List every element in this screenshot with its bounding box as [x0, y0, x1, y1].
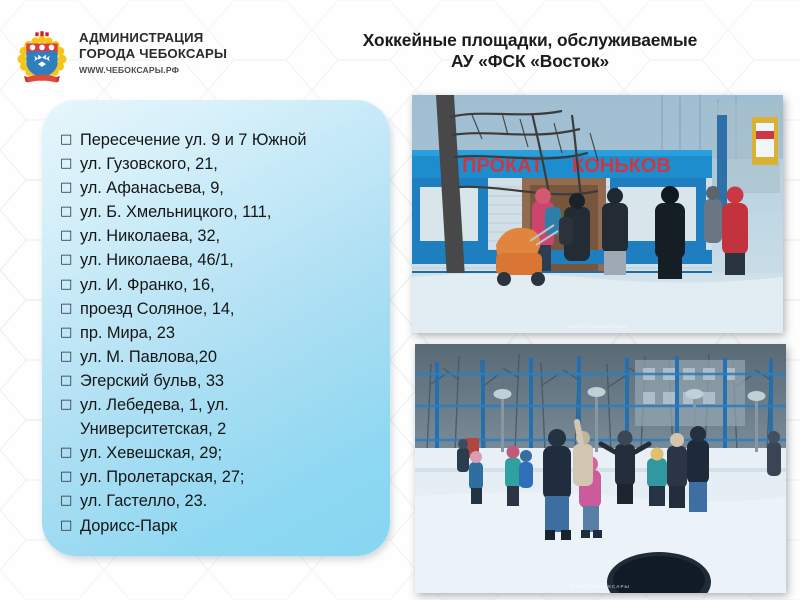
list-item: □проезд Соляное, 14, [60, 297, 380, 321]
list-item-label-continued: Университетская, 2 [80, 417, 380, 441]
list-item: □ул. И. Франко, 16, [60, 273, 380, 297]
list-item: □ул. М. Павлова,20 [60, 345, 380, 369]
list-item-label: Эгерский бульв, 33 [80, 369, 380, 393]
bullet-square-icon: □ [60, 128, 80, 152]
bullet-square-icon: □ [60, 369, 80, 393]
list-item-label: ул. Афанасьева, 9, [80, 176, 380, 200]
logo-line-website: WWW.ЧЕБОКСАРЫ.РФ [79, 63, 227, 77]
slide-canvas: АДМИНИСТРАЦИЯ ГОРОДА ЧЕБОКСАРЫ WWW.ЧЕБОК… [0, 0, 800, 600]
bullet-square-icon: □ [60, 345, 80, 369]
list-item-label: ул. Пролетарская, 27; [80, 465, 380, 489]
list-item: □ул. Лебедева, 1, ул.Университетская, 2 [60, 393, 380, 441]
bullet-square-icon: □ [60, 200, 80, 224]
bullet-square-icon: □ [60, 514, 80, 538]
list-item: □ул. Николаева, 32, [60, 224, 380, 248]
list-item-label: ул. Гастелло, 23. [80, 489, 380, 513]
list-item: □Пересечение ул. 9 и 7 Южной [60, 128, 380, 152]
list-item-label: проезд Соляное, 14, [80, 297, 380, 321]
list-item-label: ул. Николаева, 32, [80, 224, 380, 248]
logo-line-city: ГОРОДА ЧЕБОКСАРЫ [79, 46, 227, 62]
list-item-label: ул. И. Франко, 16, [80, 273, 380, 297]
bullet-square-icon: □ [60, 248, 80, 272]
bullet-square-icon: □ [60, 441, 80, 465]
list-item-label: ул. Гузовского, 21, [80, 152, 380, 176]
photo-watermark: ФОТО ЧЕБОКСАРЫ [568, 324, 627, 329]
bullet-square-icon: □ [60, 297, 80, 321]
list-item-label: ул. Б. Хмельницкого, 111, [80, 200, 380, 224]
bullet-square-icon: □ [60, 152, 80, 176]
bullet-square-icon: □ [60, 321, 80, 345]
list-item: □ул. Николаева, 46/1, [60, 248, 380, 272]
bullet-square-icon: □ [60, 273, 80, 297]
bullet-square-icon: □ [60, 489, 80, 513]
list-item-label: ул. М. Павлова,20 [80, 345, 380, 369]
cheboksary-coat-of-arms-icon [14, 29, 70, 87]
addresses-list: □Пересечение ул. 9 и 7 Южной□ ул. Гузовс… [60, 128, 380, 538]
administration-logo: АДМИНИСТРАЦИЯ ГОРОДА ЧЕБОКСАРЫ WWW.ЧЕБОК… [14, 28, 254, 90]
list-item: □Дорисс-Парк [60, 514, 380, 538]
bullet-square-icon: □ [60, 224, 80, 248]
bullet-square-icon: □ [60, 465, 80, 489]
bullet-square-icon: □ [60, 176, 80, 200]
logo-text-block: АДМИНИСТРАЦИЯ ГОРОДА ЧЕБОКСАРЫ WWW.ЧЕБОК… [79, 28, 227, 77]
list-item-label: ул. Хевешская, 29; [80, 441, 380, 465]
list-item-label: ул. Николаева, 46/1, [80, 248, 380, 272]
list-item-label: пр. Мира, 23 [80, 321, 380, 345]
ice-rink-skaters-photo: ФОТО ЧЕБОКСАРЫ [415, 344, 786, 593]
list-item: □ул. Афанасьева, 9, [60, 176, 380, 200]
list-item: □Эгерский бульв, 33 [60, 369, 380, 393]
addresses-panel: □Пересечение ул. 9 и 7 Южной□ ул. Гузовс… [42, 100, 390, 556]
list-item-label: ул. Лебедева, 1, ул.Университетская, 2 [80, 393, 380, 441]
list-item: □ул. Пролетарская, 27; [60, 465, 380, 489]
list-item: □пр. Мира, 23 [60, 321, 380, 345]
list-item: □ул. Б. Хмельницкого, 111, [60, 200, 380, 224]
list-item: □ ул. Гузовского, 21, [60, 152, 380, 176]
title-line-2: АУ «ФСК «Восток» [270, 51, 790, 72]
list-item: □ул. Гастелло, 23. [60, 489, 380, 513]
list-item: □ул. Хевешская, 29; [60, 441, 380, 465]
page-title: Хоккейные площадки, обслуживаемые АУ «ФС… [270, 30, 790, 72]
title-line-1: Хоккейные площадки, обслуживаемые [270, 30, 790, 51]
list-item-label: Пересечение ул. 9 и 7 Южной [80, 128, 380, 152]
list-item-label: Дорисс-Парк [80, 514, 380, 538]
skate-rental-kiosk-photo: ПРОКАТ КОНЬКОВ [412, 95, 783, 333]
photo-watermark: ФОТО ЧЕБОКСАРЫ [571, 584, 630, 589]
logo-line-administration: АДМИНИСТРАЦИЯ [79, 30, 227, 46]
bullet-square-icon: □ [60, 393, 80, 417]
